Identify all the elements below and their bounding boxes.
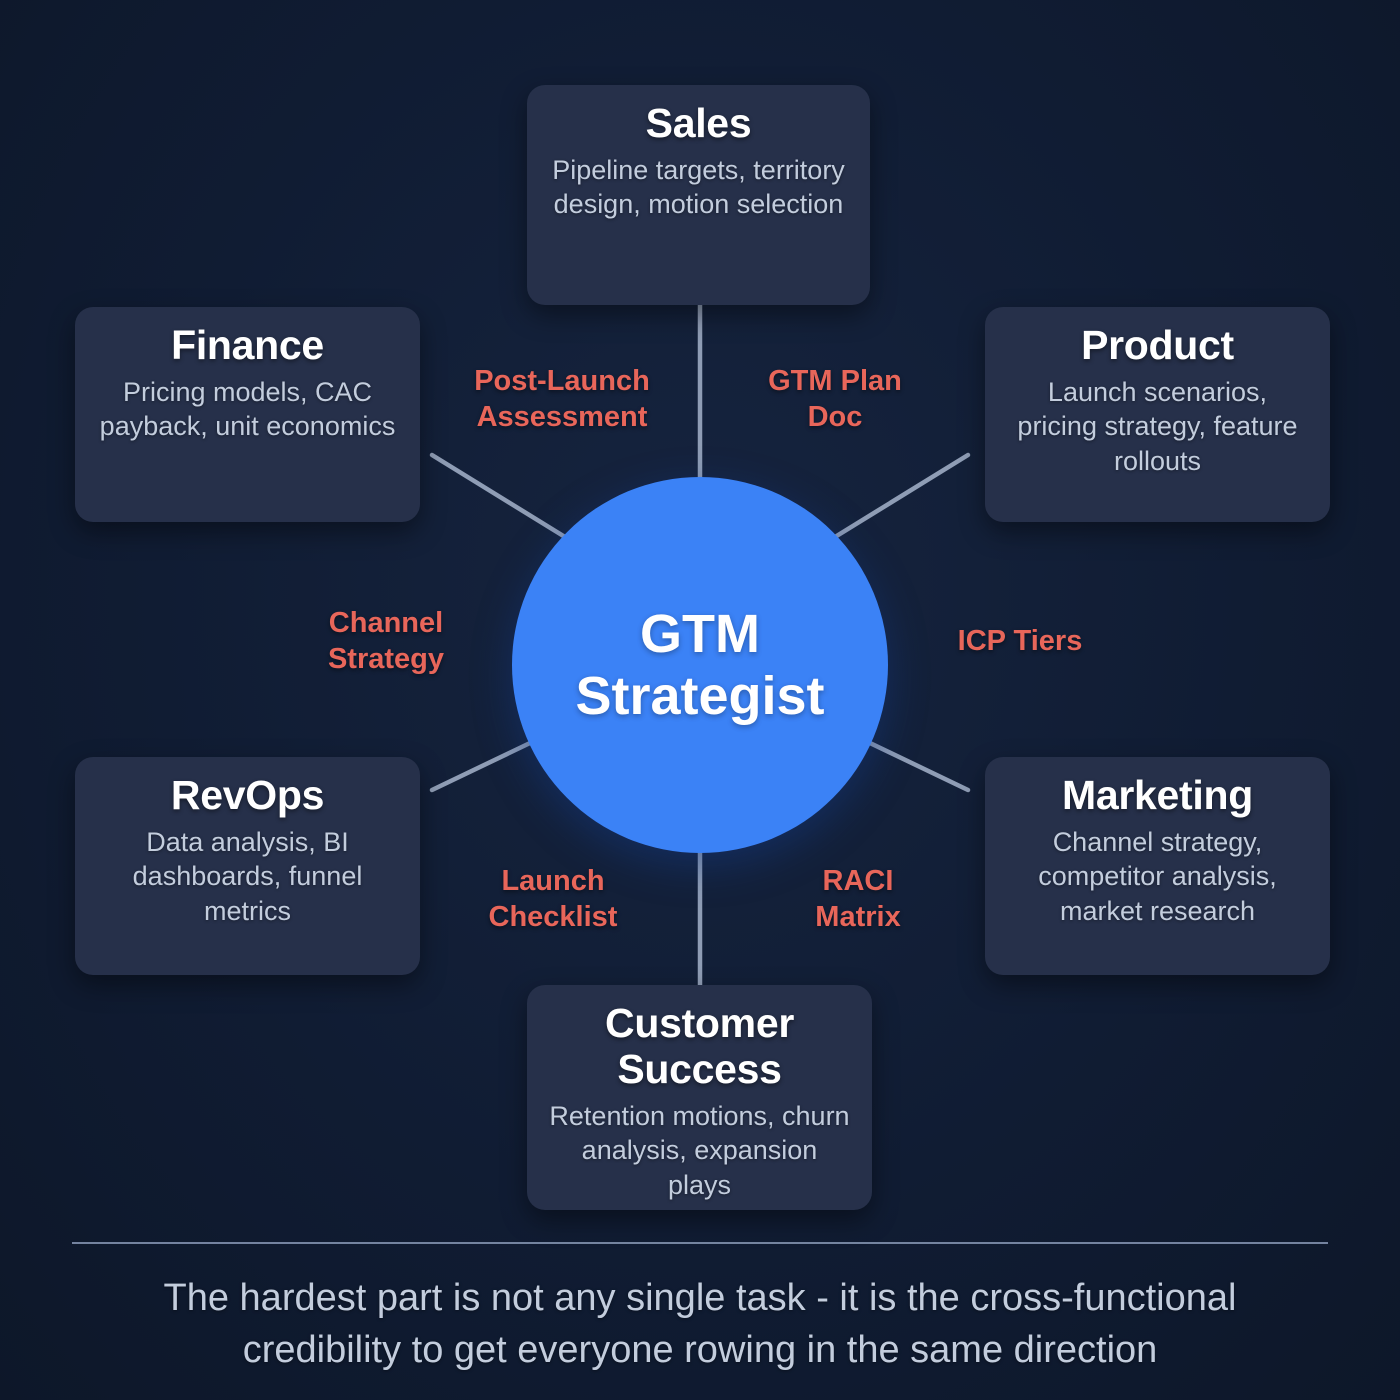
edge-label-gtm-plan-doc: GTM Plan Doc (740, 363, 930, 436)
footer-divider (72, 1242, 1328, 1244)
node-marketing-title: Marketing (1005, 773, 1310, 819)
node-sales-desc: Pipeline targets, territory design, moti… (547, 153, 850, 222)
node-finance[interactable]: Finance Pricing models, CAC payback, uni… (75, 307, 420, 522)
node-revops-desc: Data analysis, BI dashboards, funnel met… (95, 825, 400, 929)
node-marketing-desc: Channel strategy, competitor analysis, m… (1005, 825, 1310, 929)
node-product[interactable]: Product Launch scenarios, pricing strate… (985, 307, 1330, 522)
center-hub-line2: Strategist (575, 665, 824, 727)
footer-caption: The hardest part is not any single task … (100, 1272, 1300, 1377)
edge-label-launch-checklist: Launch Checklist (458, 863, 648, 936)
node-sales-title: Sales (547, 101, 850, 147)
connector-product (822, 455, 968, 545)
edge-label-channel-strategy: Channel Strategy (290, 605, 482, 678)
node-marketing[interactable]: Marketing Channel strategy, competitor a… (985, 757, 1330, 975)
node-revops-title: RevOps (95, 773, 400, 819)
edge-label-raci-matrix: RACI Matrix (768, 863, 948, 936)
connector-finance (432, 455, 578, 545)
diagram-canvas: GTM Strategist Sales Pipeline targets, t… (0, 0, 1400, 1400)
node-product-desc: Launch scenarios, pricing strategy, feat… (1005, 375, 1310, 479)
node-sales[interactable]: Sales Pipeline targets, territory design… (527, 85, 870, 305)
node-finance-title: Finance (95, 323, 400, 369)
node-customer-success-desc: Retention motions, churn analysis, expan… (547, 1099, 852, 1203)
center-hub-line1: GTM (575, 603, 824, 665)
node-finance-desc: Pricing models, CAC payback, unit econom… (95, 375, 400, 444)
edge-label-icp-tiers: ICP Tiers (930, 623, 1110, 659)
center-hub[interactable]: GTM Strategist (512, 477, 888, 853)
node-customer-success-title: Customer Success (547, 1001, 852, 1093)
center-hub-label: GTM Strategist (557, 603, 842, 727)
node-customer-success[interactable]: Customer Success Retention motions, chur… (527, 985, 872, 1210)
node-product-title: Product (1005, 323, 1310, 369)
node-revops[interactable]: RevOps Data analysis, BI dashboards, fun… (75, 757, 420, 975)
edge-label-post-launch-assessment: Post-Launch Assessment (448, 363, 676, 436)
